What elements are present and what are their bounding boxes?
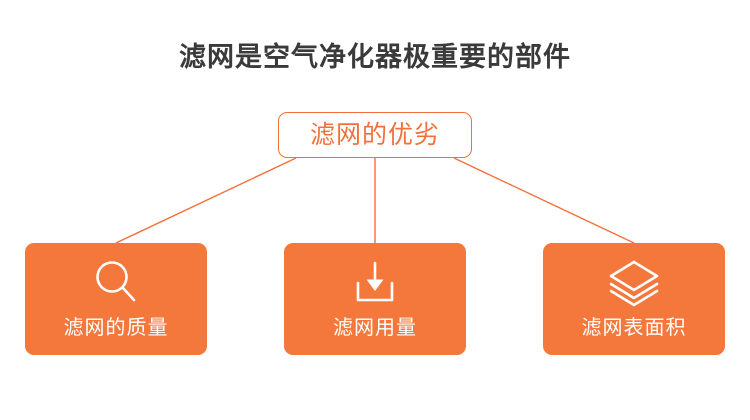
magnifier-icon	[25, 257, 207, 309]
card-label: 滤网用量	[284, 315, 466, 341]
connector-line-left	[116, 158, 296, 243]
card-label: 滤网的质量	[25, 315, 207, 341]
download-tray-icon	[284, 257, 466, 309]
card-filter-quality[interactable]: 滤网的质量	[25, 243, 207, 355]
card-filter-usage[interactable]: 滤网用量	[284, 243, 466, 355]
layers-stack-icon	[543, 257, 725, 309]
card-label: 滤网表面积	[543, 315, 725, 341]
card-filter-surface-area[interactable]: 滤网表面积	[543, 243, 725, 355]
root-node-label: 滤网的优劣	[310, 121, 440, 149]
diagram-canvas: 滤网是空气净化器极重要的部件 滤网的优劣 滤网的质量 滤网用量	[0, 0, 750, 420]
page-title: 滤网是空气净化器极重要的部件	[0, 40, 750, 74]
root-node[interactable]: 滤网的优劣	[278, 112, 472, 158]
connector-line-right	[454, 158, 634, 243]
